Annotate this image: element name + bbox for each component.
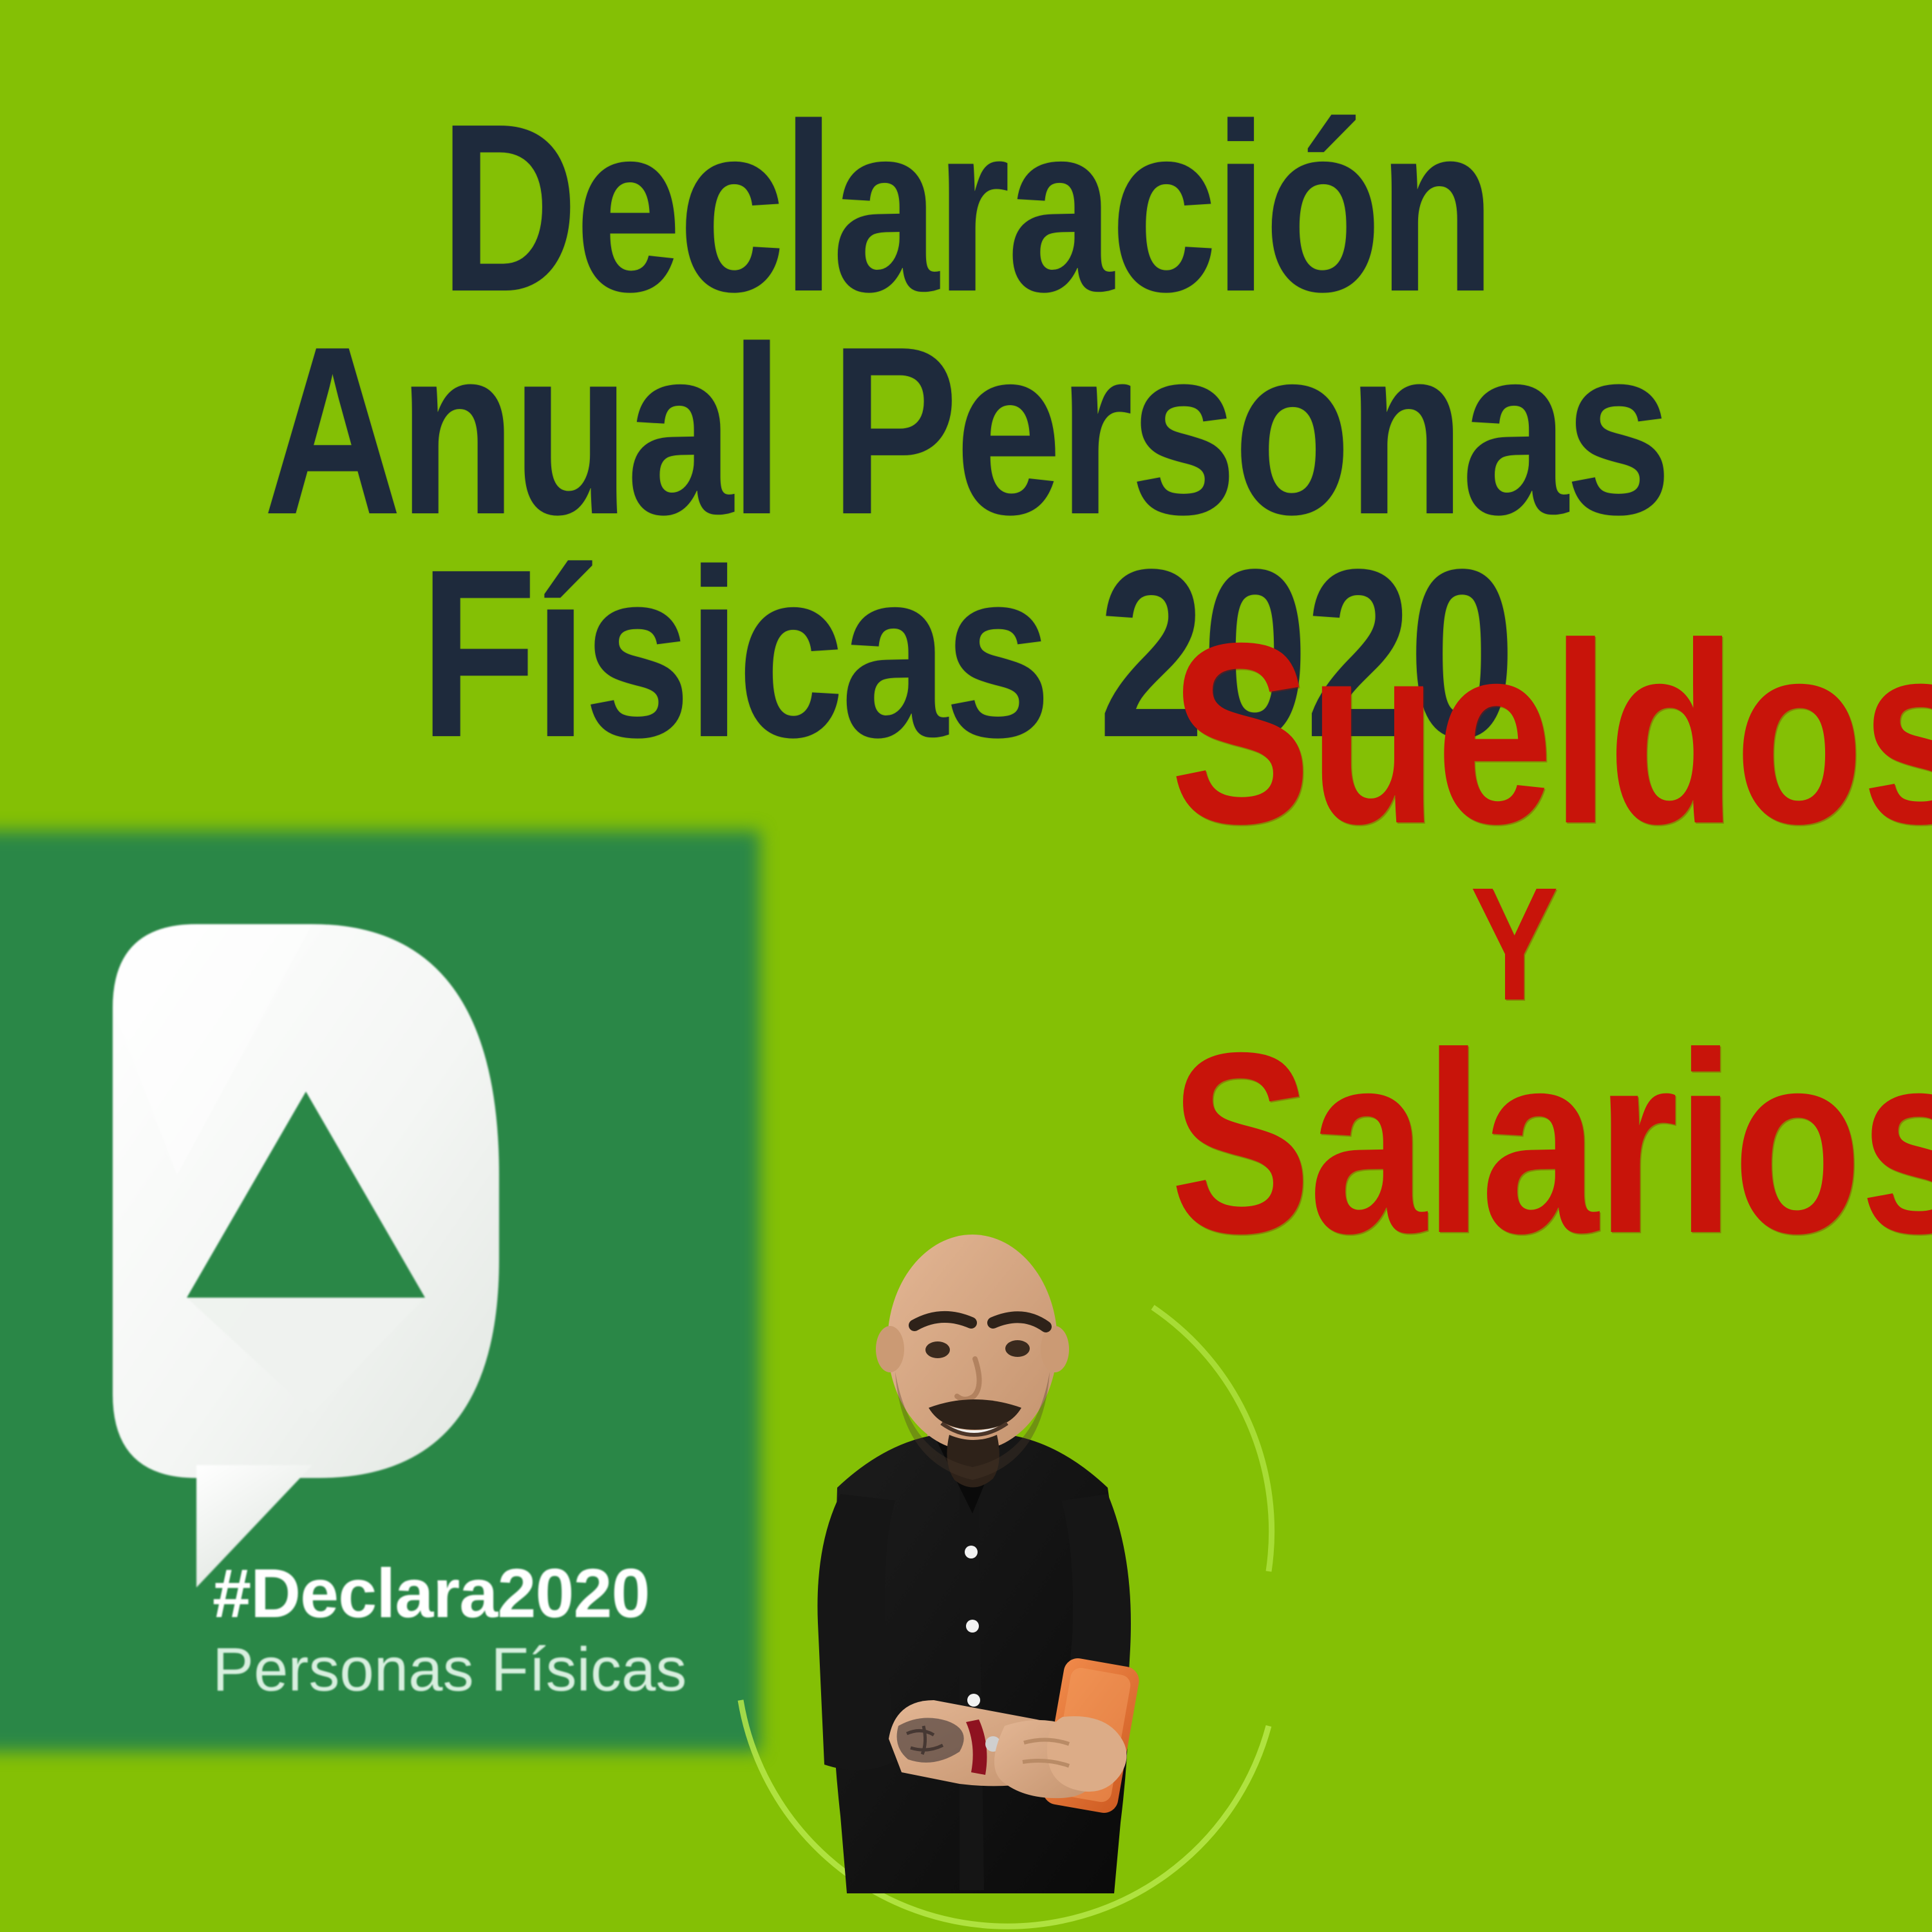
person-photo xyxy=(702,1211,1294,1932)
declara-speech-bubble-logo xyxy=(100,898,518,1594)
poster-canvas: Declaración Anual Personas Físicas 2020 … xyxy=(0,0,1932,1932)
headline: Sueldos Y Salarios xyxy=(1170,615,1857,1262)
page-title-line-1: Declaración Anual Personas xyxy=(193,97,1739,542)
headline-word-sueldos: Sueldos xyxy=(1170,615,1857,852)
logo-hashtag: #Declara2020 xyxy=(213,1558,702,1628)
logo-text-block: #Declara2020 Personas Físicas xyxy=(213,1558,702,1704)
headline-word-y: Y xyxy=(1170,870,1857,1018)
logo-subtitle: Personas Físicas xyxy=(213,1636,702,1704)
